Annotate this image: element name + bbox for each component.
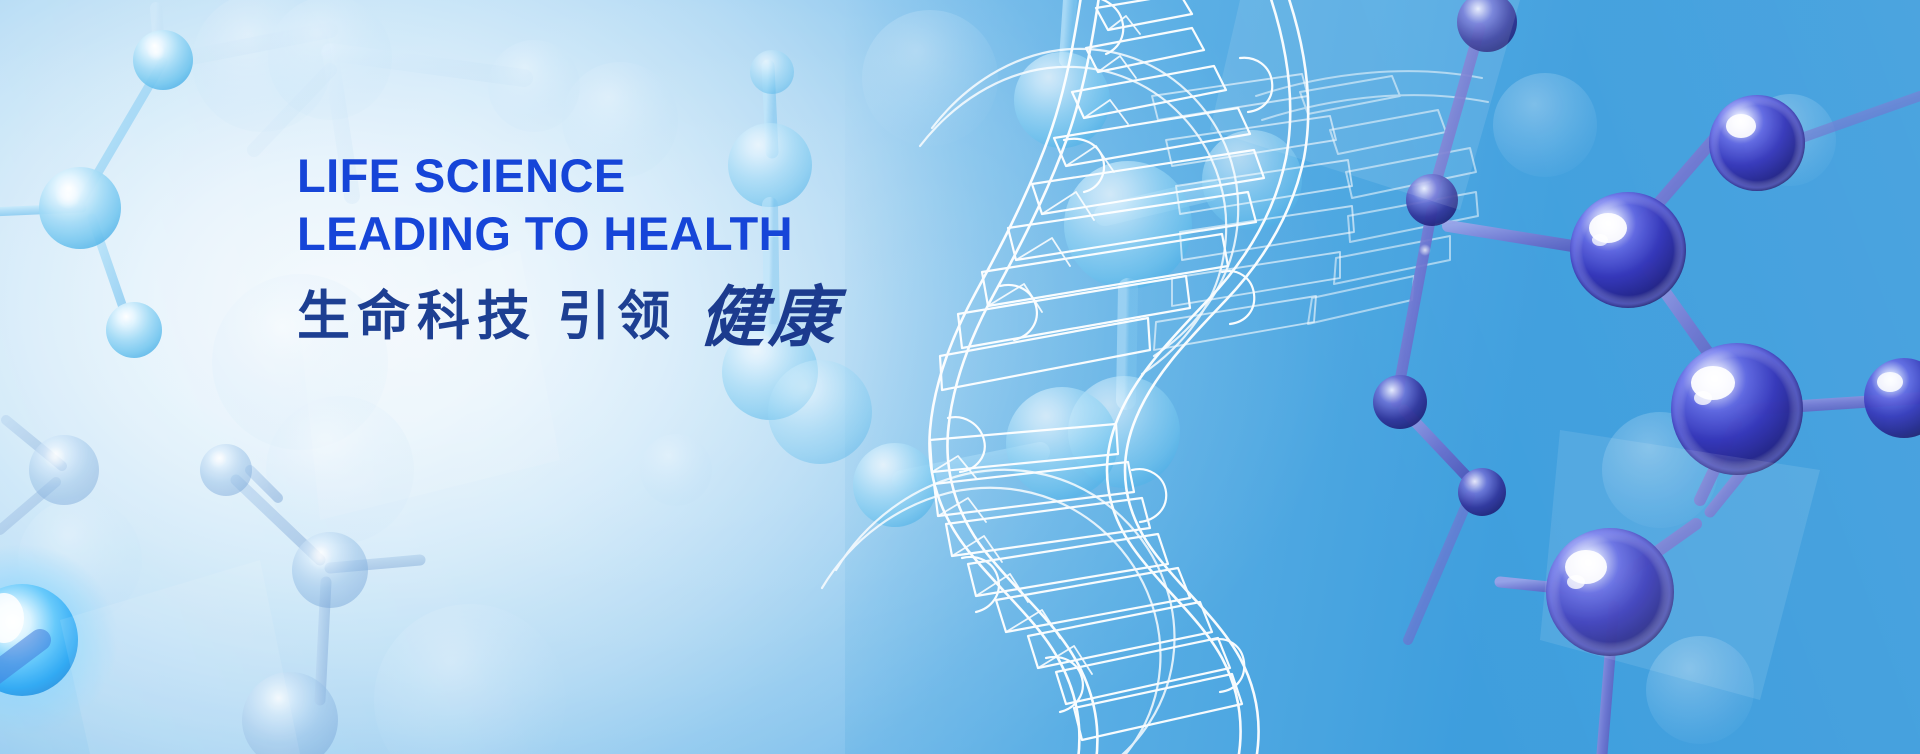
chinese-subheadline-brush: 健康: [698, 288, 841, 350]
banner-copy-block: LIFE SCIENCE LEADING TO HEALTH 生命科技 引领 健…: [297, 148, 997, 348]
life-science-banner: LIFE SCIENCE LEADING TO HEALTH 生命科技 引领 健…: [0, 0, 1920, 754]
chinese-subheadline: 生命科技 引领 健康: [297, 282, 997, 348]
headline-line-2: LEADING TO HEALTH: [297, 206, 997, 262]
banner-sheen-overlay: [0, 0, 1920, 754]
chinese-subheadline-main: 生命科技 引领: [297, 286, 677, 348]
headline-line-1: LIFE SCIENCE: [297, 148, 997, 204]
